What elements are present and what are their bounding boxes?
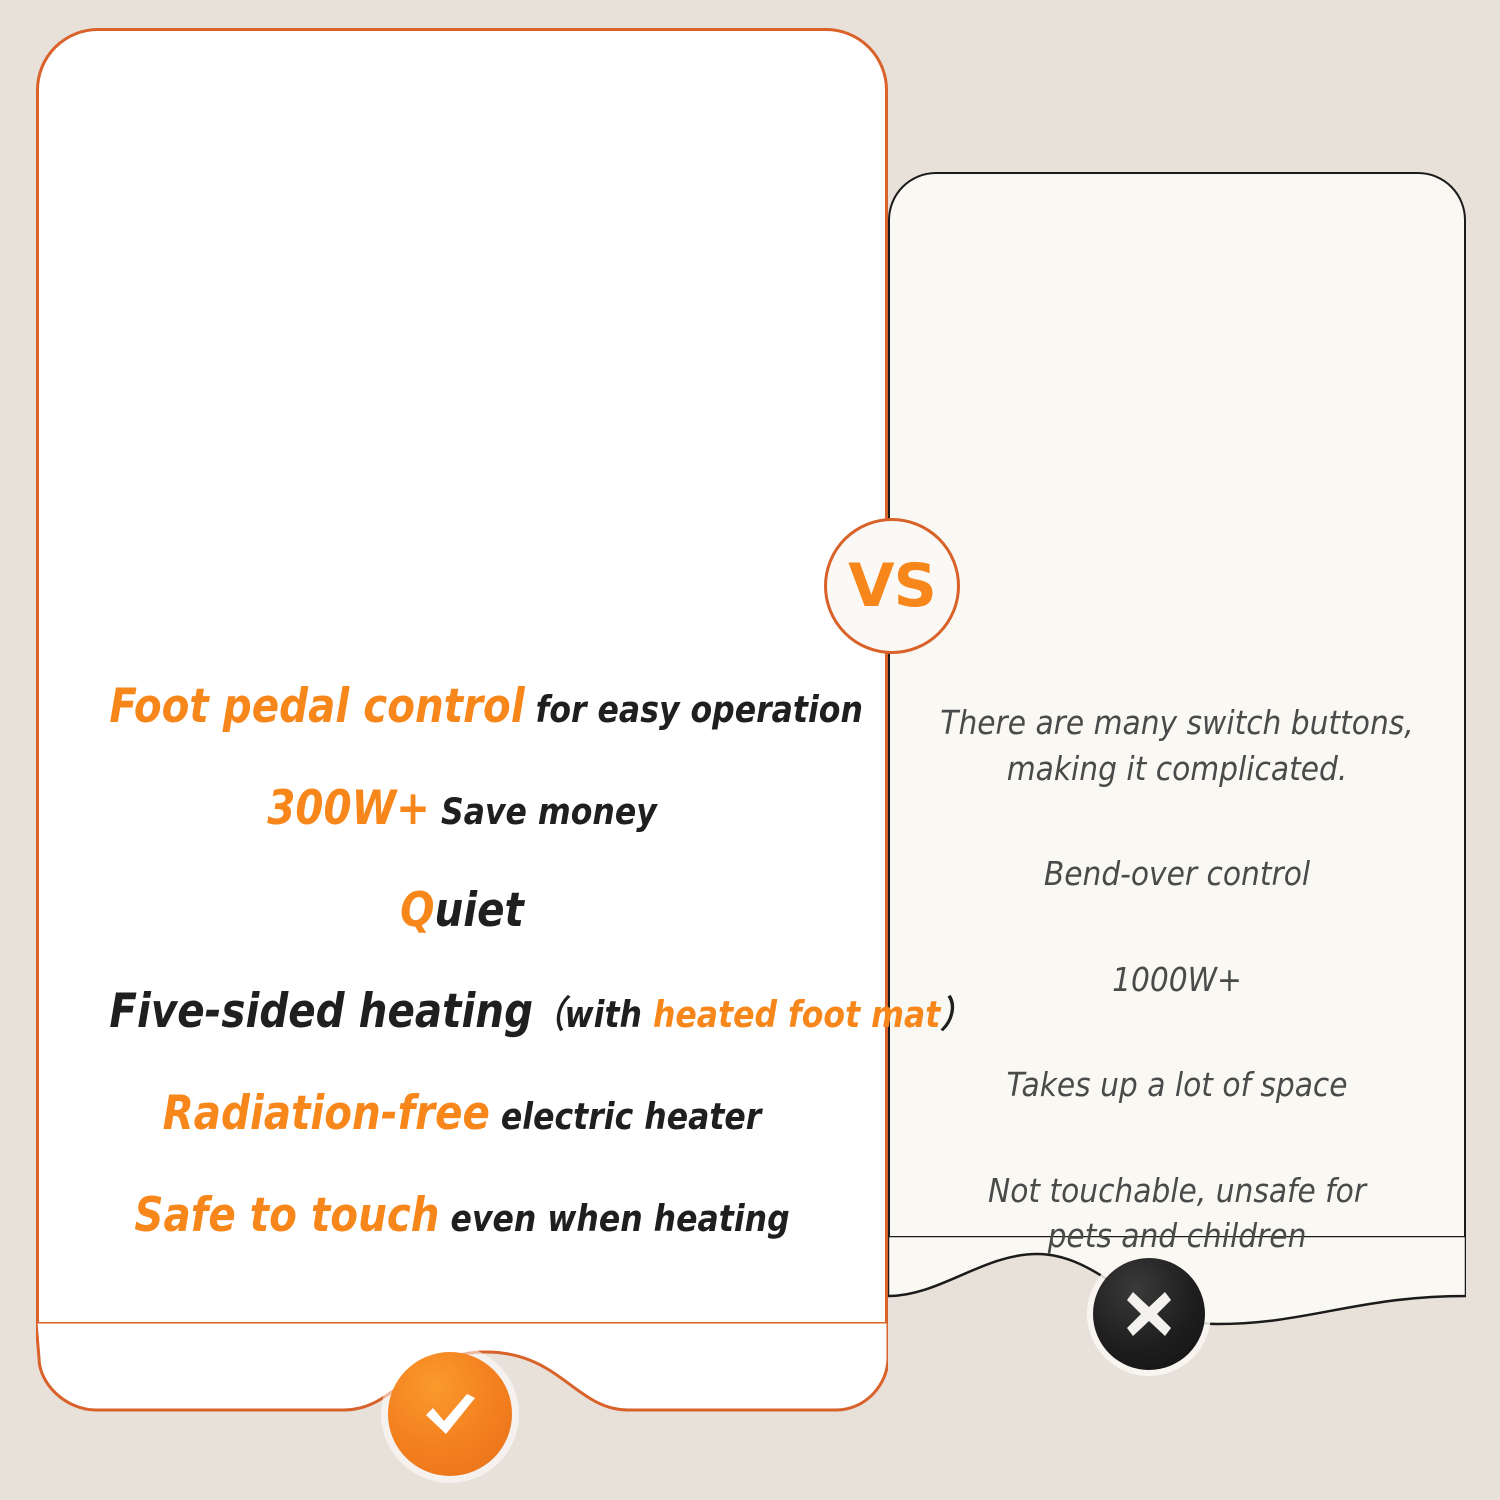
others-feature-3-line-0: Takes up a lot of space	[939, 1062, 1416, 1108]
vs-label: VS	[848, 551, 936, 621]
others-feature-2-line-0: 1000W+	[939, 957, 1416, 1003]
ours-feature-3-paren-open: （with	[533, 993, 653, 1036]
ours-feature-0-rest: for easy operation	[525, 688, 863, 731]
x-badge	[1093, 1258, 1205, 1370]
ours-feature-3-paren-close: ）	[940, 993, 972, 1036]
ours-feature-3-inner-highlight: heated foot mat	[653, 993, 940, 1036]
ours-feature-5: Safe to touch even when heating	[109, 1191, 814, 1241]
ours-feature-2-rest: uiet	[434, 883, 523, 938]
others-feature-4-line-1: pets and children	[939, 1213, 1416, 1259]
ours-feature-1: 300W+ Save money	[109, 784, 814, 834]
others-feature-1: Bend-over control	[939, 851, 1416, 897]
others-feature-1-line-0: Bend-over control	[939, 851, 1416, 897]
others-feature-0-line-1: making it complicated.	[939, 746, 1416, 792]
ours-feature-3-main: Five-sided heating	[109, 984, 533, 1039]
ours-feature-3: Five-sided heating（with heated foot mat）	[109, 987, 814, 1037]
ours-feature-5-highlight: Safe to touch	[134, 1188, 439, 1243]
ours-feature-1-rest: Save money	[430, 790, 657, 833]
ours-feature-0-highlight: Foot pedal control	[109, 679, 524, 734]
vs-badge: VS	[824, 518, 960, 654]
check-icon	[413, 1377, 487, 1451]
ours-feature-2: Quiet	[109, 886, 814, 936]
check-badge	[388, 1352, 512, 1476]
ours-feature-4: Radiation-free electric heater	[109, 1089, 814, 1139]
comparison-infographic: Others There are many switch buttons, ma…	[0, 0, 1500, 1500]
others-feature-4: Not touchable, unsafe for pets and child…	[939, 1168, 1416, 1259]
ours-feature-4-rest: electric heater	[490, 1095, 761, 1138]
close-icon	[1119, 1284, 1179, 1344]
others-feature-list: There are many switch buttons, making it…	[912, 700, 1442, 1259]
ours-feature-2-highlight: Q	[400, 883, 434, 938]
others-feature-2: 1000W+	[939, 957, 1416, 1003]
ours-feature-list: Foot pedal control for easy operation 30…	[52, 682, 872, 1241]
others-feature-4-line-0: Not touchable, unsafe for	[939, 1168, 1416, 1214]
others-feature-0-line-0: There are many switch buttons,	[939, 700, 1416, 746]
ours-feature-1-highlight: 300W+	[267, 781, 430, 836]
others-feature-0: There are many switch buttons, making it…	[939, 700, 1416, 791]
ours-feature-4-highlight: Radiation-free	[163, 1086, 490, 1141]
others-feature-3: Takes up a lot of space	[939, 1062, 1416, 1108]
ours-feature-0: Foot pedal control for easy operation	[109, 682, 814, 732]
ours-feature-5-rest: even when heating	[440, 1197, 790, 1240]
